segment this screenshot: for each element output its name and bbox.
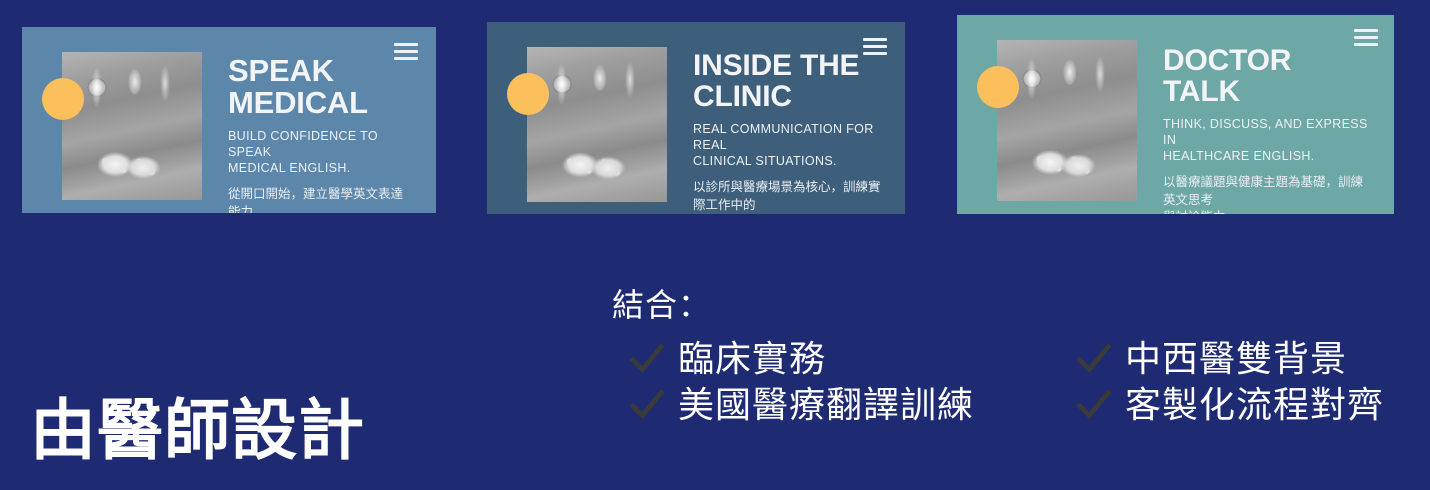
accent-dot	[507, 73, 549, 115]
card-title: DOCTOR TALK	[1163, 45, 1372, 107]
list-item: 中西醫雙背景	[1075, 338, 1384, 380]
card-chinese-tagline: 以診所與醫療場景為核心，訓練實際工作中的 英文溝通能力。	[693, 179, 883, 214]
feature-list-right: 中西醫雙背景 客製化流程對齊	[1075, 338, 1384, 426]
list-item: 美國醫療翻譯訓練	[628, 384, 974, 426]
hamburger-menu-icon[interactable]	[394, 43, 418, 60]
check-icon	[628, 340, 666, 378]
check-icon	[628, 386, 666, 424]
check-icon	[1075, 386, 1113, 424]
card-chinese-tagline: 以醫療議題與健康主題為基礎，訓練英文思考 與討論能力。	[1163, 174, 1372, 214]
headline-line-1: 由醫師設計	[30, 392, 432, 470]
card-chinese-tagline: 從開口開始，建立醫學英文表達能力	[228, 186, 414, 213]
hamburger-menu-icon[interactable]	[1354, 29, 1378, 46]
list-item-label: 臨床實務	[678, 338, 826, 380]
photo-surface	[997, 40, 1137, 201]
feature-list-left: 臨床實務 美國醫療翻譯訓練	[628, 338, 974, 426]
doctor-holding-pills-photo	[62, 52, 202, 200]
card-title: INSIDE THE CLINIC	[693, 50, 883, 112]
doctor-holding-pills-photo	[997, 40, 1137, 201]
list-item: 臨床實務	[628, 338, 974, 380]
check-icon	[1075, 340, 1113, 378]
course-card-speak-medical[interactable]: SPEAK MEDICAL BUILD CONFIDENCE TO SPEAK …	[22, 27, 436, 213]
accent-dot	[977, 66, 1019, 108]
course-card-inside-the-clinic[interactable]: INSIDE THE CLINIC REAL COMMUNICATION FOR…	[487, 22, 905, 214]
combination-block: 結合：	[612, 288, 711, 327]
combination-label: 結合：	[612, 288, 711, 323]
hamburger-menu-icon[interactable]	[863, 38, 887, 55]
course-card-doctor-talk[interactable]: DOCTOR TALK THINK, DISCUSS, AND EXPRESS …	[957, 15, 1394, 214]
card-subtitle: THINK, DISCUSS, AND EXPRESS IN HEALTHCAR…	[1163, 116, 1372, 164]
list-item-label: 中西醫雙背景	[1125, 338, 1347, 380]
card-subtitle: BUILD CONFIDENCE TO SPEAK MEDICAL ENGLIS…	[228, 128, 414, 176]
card-subtitle: REAL COMMUNICATION FOR REAL CLINICAL SIT…	[693, 121, 883, 169]
list-item-label: 美國醫療翻譯訓練	[678, 384, 974, 426]
doctor-holding-pills-photo	[527, 47, 667, 202]
card-title: SPEAK MEDICAL	[228, 55, 414, 119]
poster-canvas: SPEAK MEDICAL BUILD CONFIDENCE TO SPEAK …	[0, 0, 1430, 490]
accent-dot	[42, 78, 84, 120]
list-item-label: 客製化流程對齊	[1125, 384, 1384, 426]
photo-surface	[527, 47, 667, 202]
photo-surface	[62, 52, 202, 200]
page-headline: 由醫師設計 而非英語補習	[30, 236, 432, 490]
list-item: 客製化流程對齊	[1075, 384, 1384, 426]
